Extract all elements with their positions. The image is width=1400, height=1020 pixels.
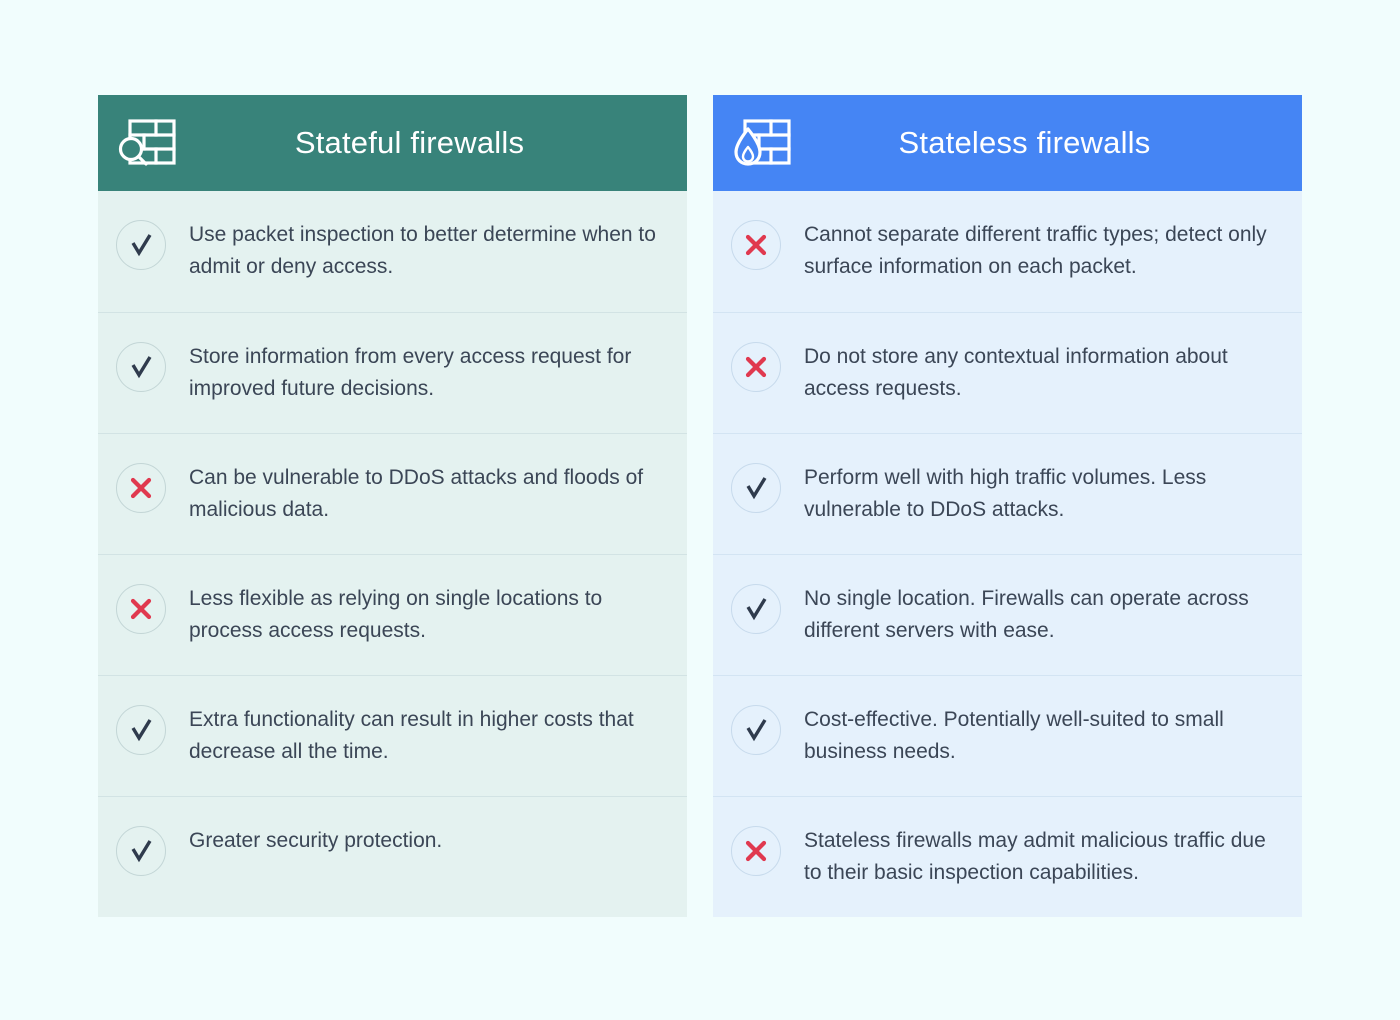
column-header-stateless: Stateless firewalls [713,95,1302,191]
check-icon [731,584,781,634]
table-row: Extra functionality can result in higher… [98,675,687,796]
cross-icon [731,220,781,270]
table-row: Less flexible as relying on single locat… [98,554,687,675]
cross-icon [731,342,781,392]
column-title-stateless: Stateless firewalls [713,125,1302,161]
table-row: Cannot separate different traffic types;… [713,191,1302,312]
row-text: Perform well with high traffic volumes. … [804,462,1274,526]
table-row: Can be vulnerable to DDoS attacks and fl… [98,433,687,554]
check-icon [116,826,166,876]
row-text: Can be vulnerable to DDoS attacks and fl… [189,462,659,526]
table-row: Use packet inspection to better determin… [98,191,687,312]
check-icon [731,705,781,755]
row-text: Use packet inspection to better determin… [189,219,659,283]
column-body-stateless: Cannot separate different traffic types;… [713,191,1302,917]
table-row: Store information from every access requ… [98,312,687,433]
row-text: Cost-effective. Potentially well-suited … [804,704,1274,768]
check-icon [116,342,166,392]
row-text: Stateless firewalls may admit malicious … [804,825,1274,889]
cross-icon [116,584,166,634]
column-body-stateful: Use packet inspection to better determin… [98,191,687,917]
wall-magnifier-icon [112,112,184,174]
column-stateless: Stateless firewalls Cannot separate diff… [713,95,1302,917]
row-text: Cannot separate different traffic types;… [804,219,1274,283]
check-icon [731,463,781,513]
row-text: Do not store any contextual information … [804,341,1274,405]
table-row: Stateless firewalls may admit malicious … [713,796,1302,917]
table-row: Do not store any contextual information … [713,312,1302,433]
row-text: No single location. Firewalls can operat… [804,583,1274,647]
cross-icon [116,463,166,513]
row-text: Less flexible as relying on single locat… [189,583,659,647]
table-row: Perform well with high traffic volumes. … [713,433,1302,554]
row-text: Greater security protection. [189,825,442,857]
table-row: Greater security protection. [98,796,687,917]
column-header-stateful: Stateful firewalls [98,95,687,191]
wall-flame-icon [727,112,799,174]
row-text: Store information from every access requ… [189,341,659,405]
column-stateful: Stateful firewalls Use packet inspection… [98,95,687,917]
comparison-table: Stateful firewalls Use packet inspection… [98,95,1302,917]
column-title-stateful: Stateful firewalls [98,125,687,161]
row-text: Extra functionality can result in higher… [189,704,659,768]
cross-icon [731,826,781,876]
table-row: Cost-effective. Potentially well-suited … [713,675,1302,796]
check-icon [116,220,166,270]
table-row: No single location. Firewalls can operat… [713,554,1302,675]
check-icon [116,705,166,755]
